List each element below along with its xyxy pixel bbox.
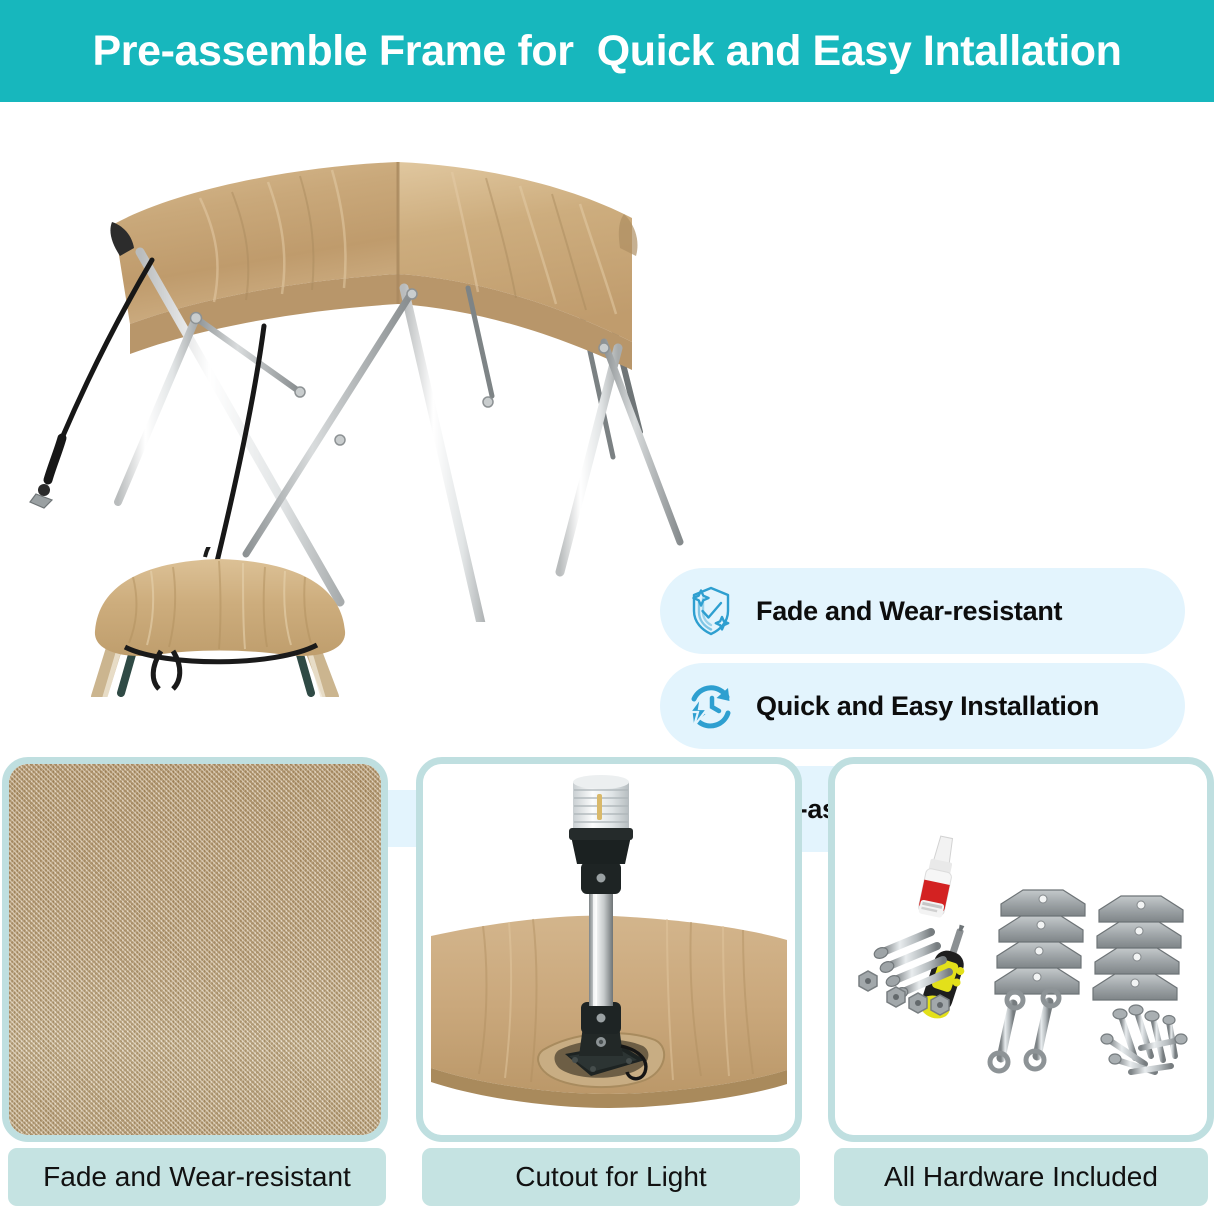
caption-cutout-for-light: Cutout for Light <box>422 1148 800 1206</box>
header-banner: Pre-assemble Frame for Quick and Easy In… <box>0 0 1214 102</box>
panel-cutout-for-light <box>416 757 802 1142</box>
feature-pill-quick-install: Quick and Easy Installation <box>660 663 1185 749</box>
caption-fade-resistant: Fade and Wear-resistant <box>8 1148 386 1206</box>
panel-hardware-image <box>835 764 1207 1135</box>
hero-section: Storage Boot included Fade and Wear-resi… <box>0 102 1214 752</box>
storage-boot-image <box>55 547 385 697</box>
shield-check-sparkle-icon <box>672 572 750 650</box>
panel-fade-resistant <box>2 757 388 1142</box>
panel-fade-resistant-image <box>9 764 381 1135</box>
page-title: Pre-assemble Frame for Quick and Easy In… <box>92 27 1121 76</box>
bimini-top-product-image <box>0 102 700 622</box>
caption-label-fade-resistant: Fade and Wear-resistant <box>43 1161 351 1193</box>
panel-all-hardware <box>828 757 1214 1142</box>
tan-woven-fabric-swatch <box>9 764 381 1135</box>
caption-all-hardware: All Hardware Included <box>834 1148 1208 1206</box>
caption-label-cutout-for-light: Cutout for Light <box>515 1161 706 1193</box>
feature-label-quick-install: Quick and Easy Installation <box>756 691 1099 722</box>
clock-refresh-bolt-icon <box>672 667 750 745</box>
panel-cutout-image <box>423 764 795 1135</box>
caption-label-all-hardware: All Hardware Included <box>884 1161 1158 1193</box>
feature-pill-fade-resistant: Fade and Wear-resistant <box>660 568 1185 654</box>
feature-label-fade-resistant: Fade and Wear-resistant <box>756 596 1062 627</box>
